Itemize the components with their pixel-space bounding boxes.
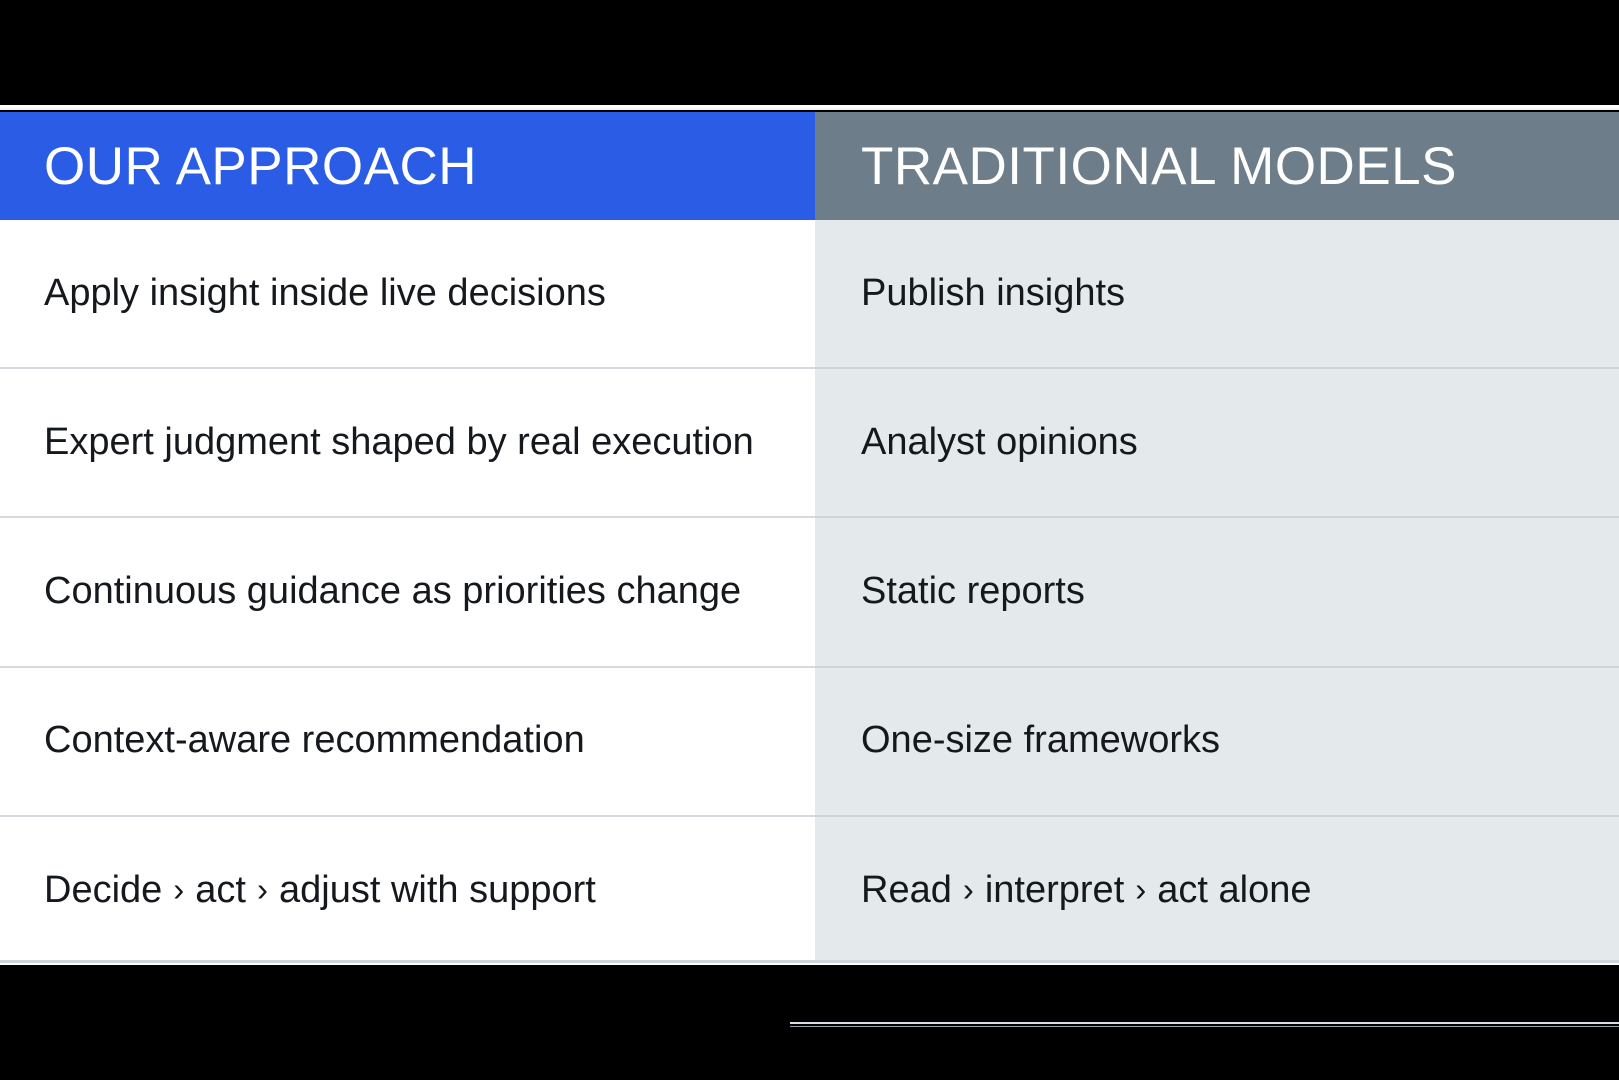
chevron-right-icon: › [1124,871,1157,909]
chevron-right-icon: › [246,871,279,909]
table-row-sequence: Decide › act › adjust with support [0,815,815,964]
bottom-divider-rule [790,1022,1619,1024]
chevron-right-icon: › [162,871,195,909]
cell-text: Context-aware recommendation [44,719,585,763]
table-row-sequence: Read › interpret › act alone [815,815,1619,964]
cell-text: Static reports [861,570,1085,614]
cell-text: Apply insight inside live decisions [44,272,606,316]
column-our-approach: OUR APPROACH Apply insight inside live d… [0,112,815,964]
table-row: Expert judgment shaped by real execution [0,367,815,516]
comparison-table: OUR APPROACH Apply insight inside live d… [0,112,1619,964]
column-header-our-approach: OUR APPROACH [0,112,815,220]
comparison-slide: OUR APPROACH Apply insight inside live d… [0,0,1619,1080]
table-row: Static reports [815,516,1619,665]
table-row: Publish insights [815,220,1619,367]
table-bottom-edge-highlight [0,963,1619,965]
column-traditional-models: TRADITIONAL MODELS Publish insights Anal… [815,112,1619,964]
table-row: Apply insight inside live decisions [0,220,815,367]
table-row: Continuous guidance as priorities change [0,516,815,665]
cell-text: Expert judgment shaped by real execution [44,421,754,465]
table-row: One-size frameworks [815,666,1619,815]
cell-text: Analyst opinions [861,421,1138,465]
sequence-step: Decide [44,869,162,913]
bottom-divider-rule-shadow [790,1026,1619,1027]
table-row: Context-aware recommendation [0,666,815,815]
sequence-step: adjust with support [279,869,596,913]
cell-text: Publish insights [861,272,1125,316]
top-divider-rule-shadow [0,108,1619,110]
sequence-step: act [195,869,246,913]
cell-text: One-size frameworks [861,719,1220,763]
sequence-step: interpret [985,869,1124,913]
cell-text: Continuous guidance as priorities change [44,570,741,614]
chevron-right-icon: › [952,871,985,909]
column-header-traditional-models: TRADITIONAL MODELS [815,112,1619,220]
table-row: Analyst opinions [815,367,1619,516]
sequence-step: Read [861,869,952,913]
sequence-step: act alone [1157,869,1311,913]
